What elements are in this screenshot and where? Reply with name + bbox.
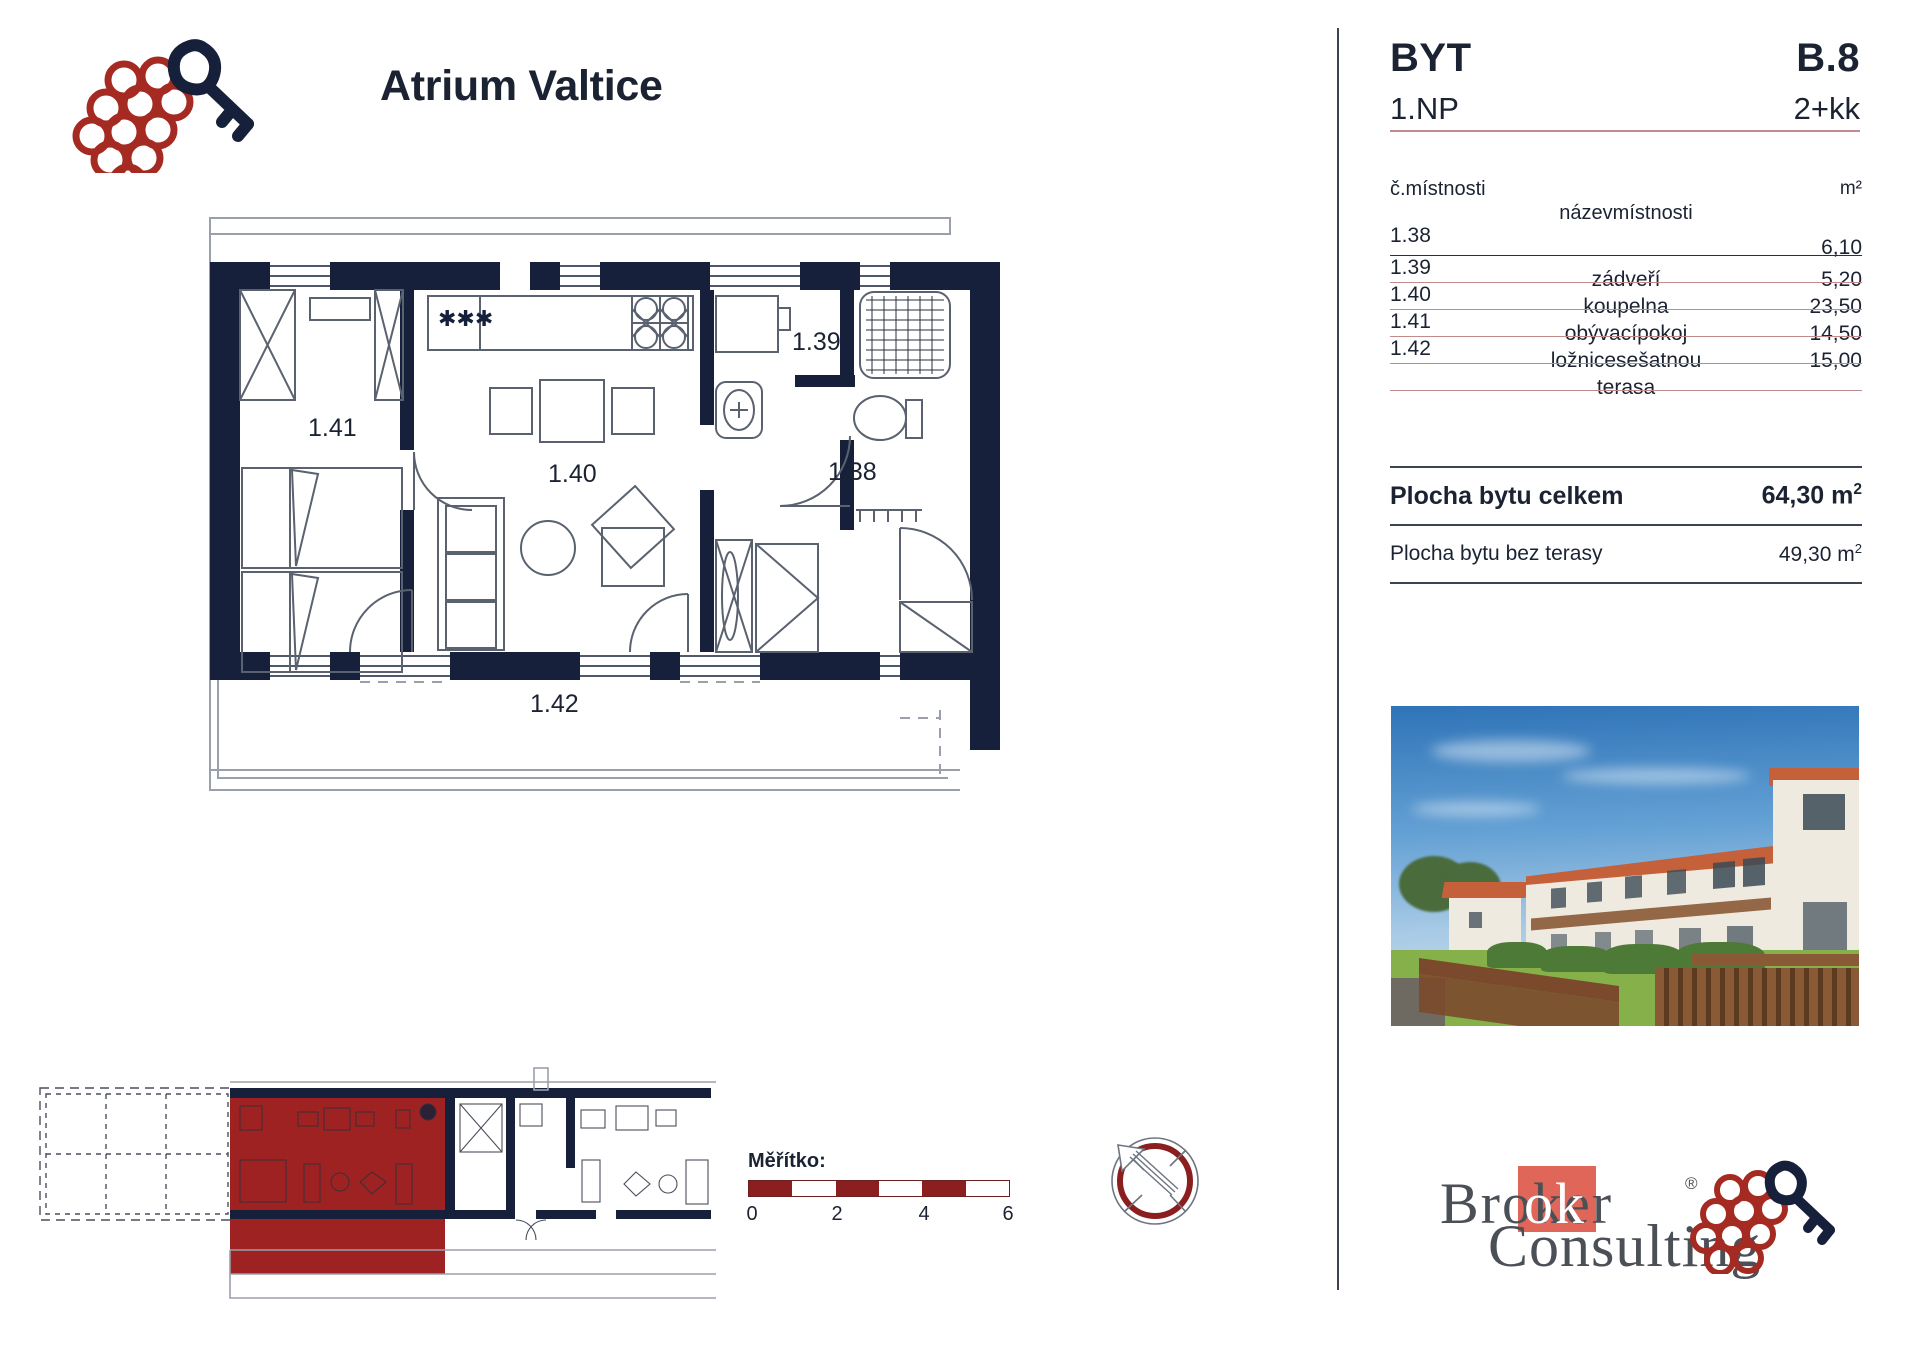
- col-header-number: č.místnosti: [1390, 178, 1486, 201]
- floor-label: 1.NP: [1390, 91, 1459, 127]
- area-without-terrace-label: Plocha bytu bez terasy: [1390, 542, 1602, 566]
- scale-tick-2: 2: [831, 1203, 842, 1226]
- table-row: 1.41 obývacípokoj 14,50: [1390, 310, 1862, 337]
- disposition-label: 2+kk: [1794, 91, 1860, 127]
- document-page: Atrium Valtice: [0, 0, 1920, 1357]
- scale-ticks: 0 2 4 6: [748, 1203, 1008, 1227]
- table-row: 1.39 zádveří 5,20: [1390, 256, 1862, 283]
- room-label-1-42: 1.42: [530, 690, 579, 718]
- grape-key-icon: [1690, 1154, 1840, 1274]
- site-plan-thumbnail: [36, 1060, 716, 1300]
- table-row: 1.38 6,10: [1390, 224, 1862, 256]
- unit-info-header: BYT B.8 1.NP 2+kk: [1390, 36, 1860, 132]
- scale-segments: [748, 1180, 1010, 1197]
- area-without-terrace-row: Plocha bytu bez terasy 49,30 m2: [1390, 526, 1862, 582]
- table-row: 1.42 ložnicesešatnou 15,00: [1390, 337, 1862, 364]
- row-number: 1.38: [1390, 224, 1431, 248]
- room-label-1-38: 1.38: [828, 458, 877, 486]
- byt-label: BYT: [1390, 36, 1472, 81]
- table-row: 1.40 koupelna 23,50: [1390, 283, 1862, 310]
- grape-key-icon: [62, 28, 272, 173]
- table-row: terasa: [1390, 364, 1862, 391]
- scale-bar: Měřítko: 0 2 4 6: [748, 1150, 1010, 1227]
- room-label-1-39: 1.39: [792, 328, 841, 356]
- totals-block: Plocha bytu celkem 64,30 m2 Plocha bytu …: [1390, 466, 1862, 584]
- scale-tick-4: 4: [918, 1203, 929, 1226]
- row-name: terasa: [1390, 376, 1862, 400]
- area-without-terrace-value: 49,30 m2: [1779, 541, 1862, 567]
- scale-tick-0: 0: [746, 1203, 757, 1226]
- north-arrow-compass-icon: [1100, 1125, 1210, 1235]
- unit-code: B.8: [1796, 36, 1860, 81]
- total-area-row: Plocha bytu celkem 64,30 m2: [1390, 468, 1862, 524]
- page-title: Atrium Valtice: [380, 62, 940, 111]
- scale-label: Měřítko:: [748, 1150, 1010, 1173]
- room-label-1-40: 1.40: [548, 460, 597, 488]
- floorplan-drawing: ✱✱✱: [200, 210, 1200, 1030]
- svg-text:✱✱✱: ✱✱✱: [438, 306, 493, 331]
- col-header-name: názevmístnosti: [1390, 202, 1862, 225]
- broker-consulting-logo: Broker ok ® Consulting: [1440, 1160, 1840, 1290]
- col-header-area: m²: [1840, 178, 1862, 200]
- room-label-1-41: 1.41: [308, 414, 357, 442]
- header-rule: [1390, 130, 1860, 132]
- total-area-value: 64,30 m2: [1762, 481, 1862, 510]
- room-table: č.místnosti m² názevmístnosti 1.38 6,10 …: [1390, 178, 1862, 391]
- table-header: č.místnosti m² názevmístnosti: [1390, 178, 1862, 224]
- totals-rule-bottom: [1390, 582, 1862, 584]
- scale-tick-6: 6: [1002, 1203, 1013, 1226]
- building-exterior-render: [1391, 706, 1859, 1026]
- total-area-label: Plocha bytu celkem: [1390, 482, 1623, 511]
- panel-divider: [1337, 28, 1339, 1290]
